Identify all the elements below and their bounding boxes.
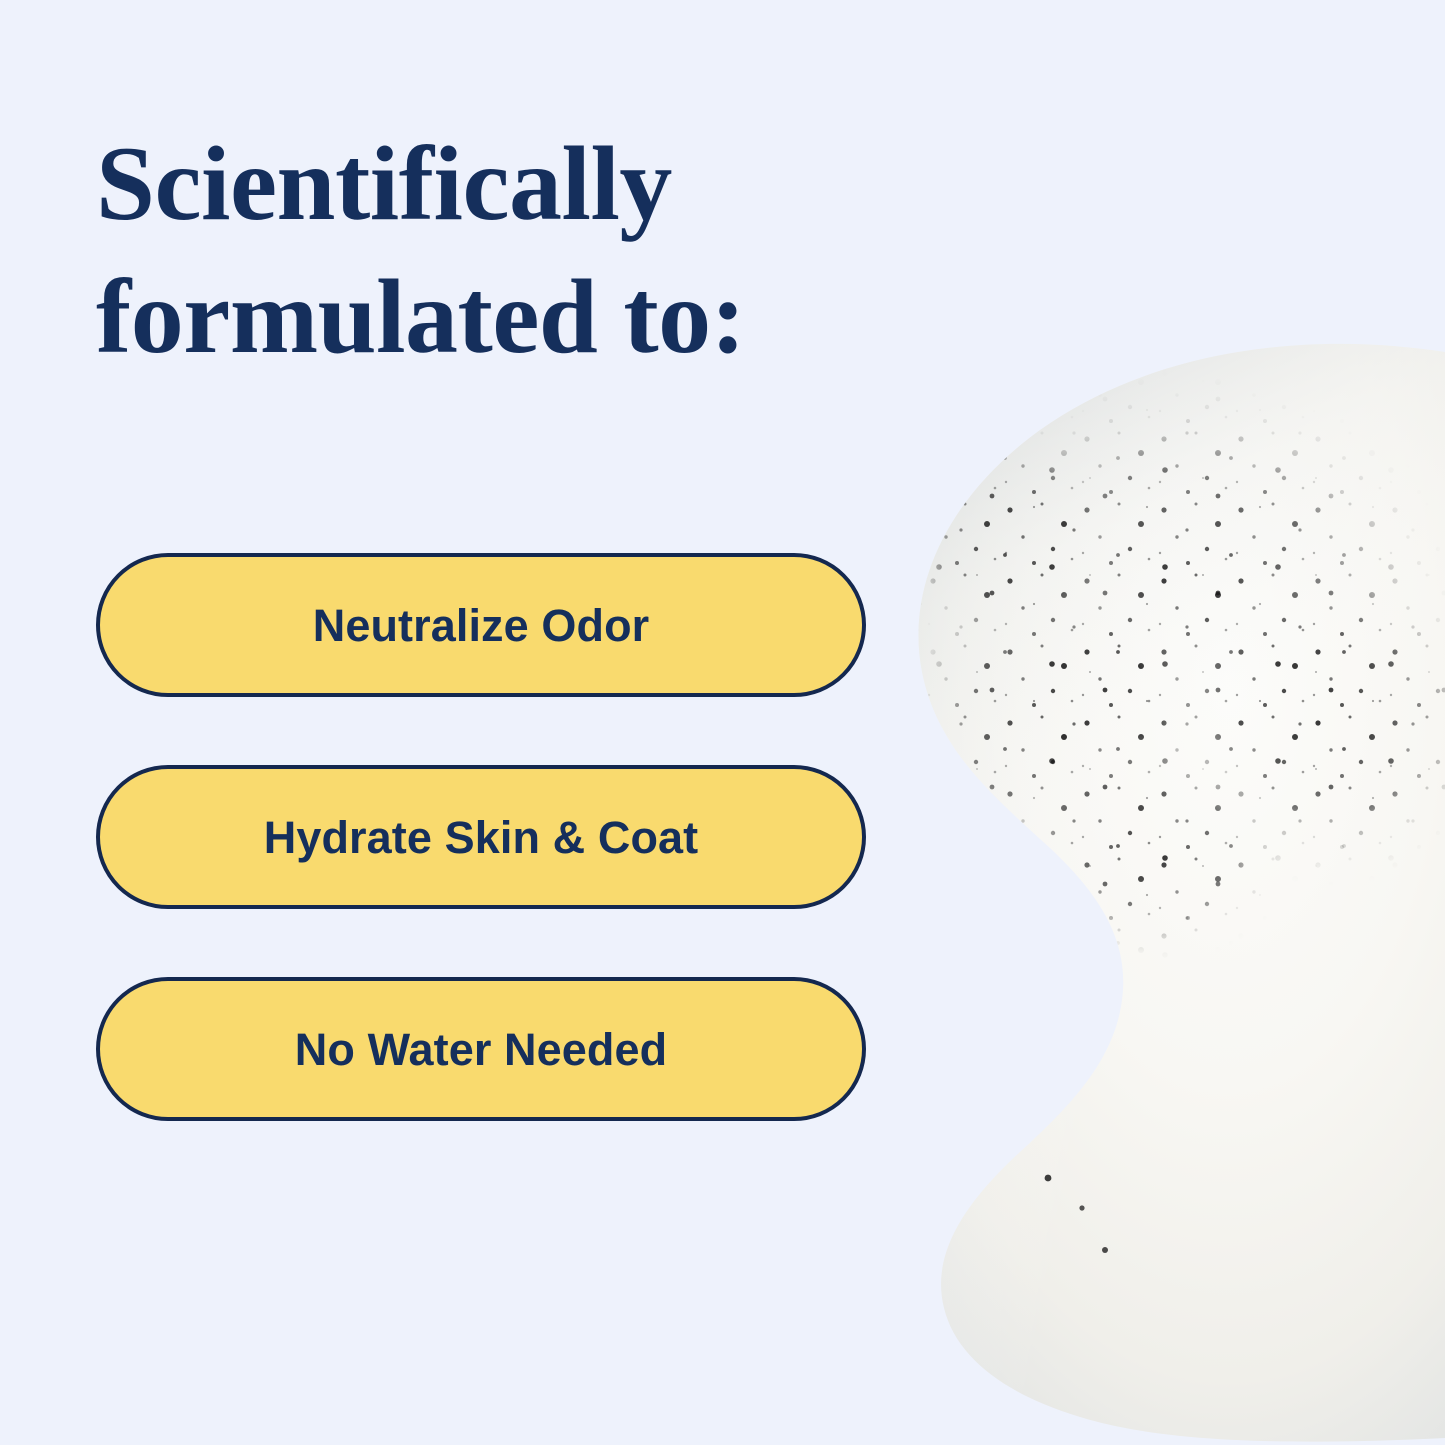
benefit-pill-neutralize-odor[interactable]: Neutralize Odor (96, 553, 866, 697)
promo-canvas: Scientifically formulated to: Neutralize… (0, 0, 1445, 1445)
page-headline: Scientifically formulated to: (96, 118, 956, 383)
benefit-label: Hydrate Skin & Coat (264, 815, 699, 860)
benefit-label: No Water Needed (295, 1027, 667, 1072)
benefits-list: Neutralize Odor Hydrate Skin & Coat No W… (96, 553, 866, 1121)
benefit-pill-hydrate-skin-and-coat[interactable]: Hydrate Skin & Coat (96, 765, 866, 909)
benefit-label: Neutralize Odor (313, 603, 650, 648)
benefit-pill-no-water-needed[interactable]: No Water Needed (96, 977, 866, 1121)
